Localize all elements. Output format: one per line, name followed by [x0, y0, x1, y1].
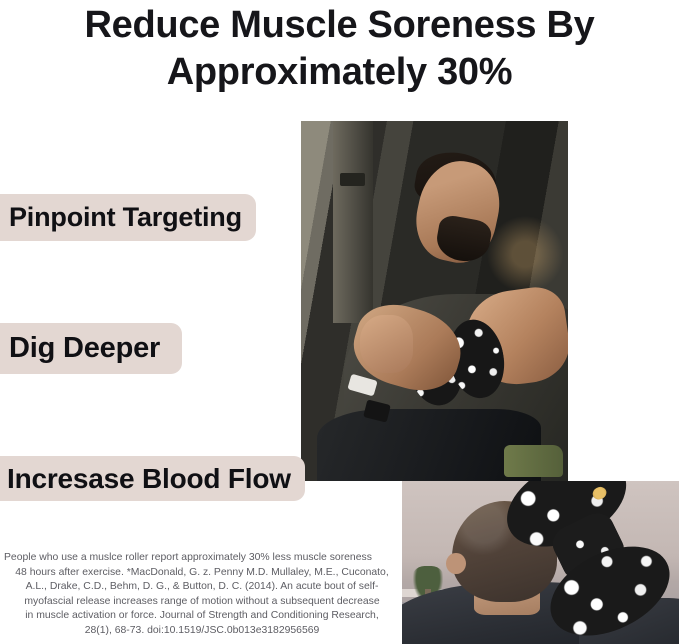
- feature-badge-label: Incresase Blood Flow: [7, 463, 291, 495]
- feature-badge-label: Dig Deeper: [9, 332, 160, 365]
- footnote-line-1: People who use a muslce roller report ap…: [4, 551, 400, 566]
- product-photo-neck-roller: [402, 481, 679, 644]
- footnote-line-4: myofascial release increases range of mo…: [4, 595, 400, 610]
- footnote-line-3: A.L., Drake, C.D., Behm, D. G., & Button…: [4, 580, 400, 595]
- athlete-hand: [360, 315, 413, 373]
- footnote-line-6: 28(1), 68-73. doi:10.1519/JSC.0b013e3182…: [4, 624, 400, 639]
- footnote-citation: People who use a muslce roller report ap…: [4, 551, 400, 639]
- feature-badge-dig-deeper: Dig Deeper: [0, 323, 182, 374]
- product-photo-gym-arm: [301, 121, 568, 481]
- footnote-line-2: 48 hours after exercise. *MacDonald, G. …: [4, 566, 400, 581]
- headline-line-1: Reduce Muscle Soreness By: [0, 2, 679, 49]
- feature-badge-pinpoint-targeting: Pinpoint Targeting: [0, 194, 256, 241]
- feature-badge-label: Pinpoint Targeting: [9, 202, 242, 233]
- athlete-shoe: [504, 445, 563, 477]
- headline-line-2: Approximately 30%: [0, 49, 679, 96]
- gym-equipment-pillar: [333, 121, 373, 323]
- user-ear: [446, 553, 465, 574]
- feature-badge-increase-blood-flow: Incresase Blood Flow: [0, 456, 305, 501]
- page-title: Reduce Muscle Soreness By Approximately …: [0, 2, 679, 96]
- footnote-line-5: in muscle activation or force. Journal o…: [4, 609, 400, 624]
